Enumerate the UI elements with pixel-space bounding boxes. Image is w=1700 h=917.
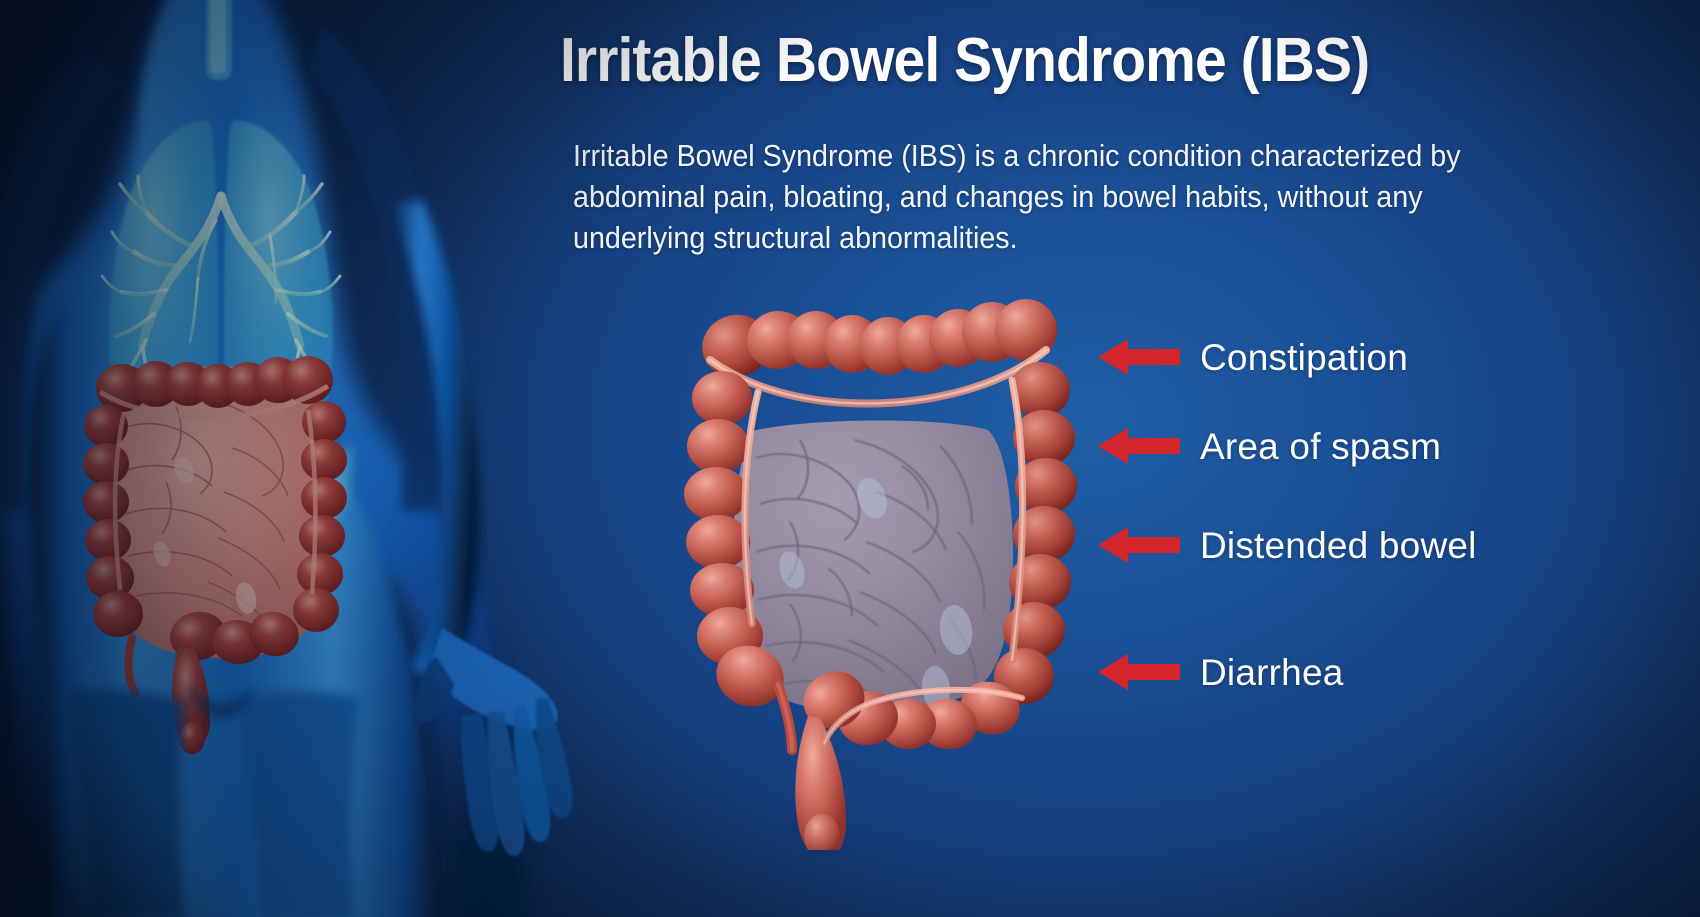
left-arrow-icon — [1098, 337, 1180, 377]
callout-constipation: Constipation — [1098, 333, 1408, 381]
large-intestine-diagram — [640, 280, 1120, 850]
description-paragraph: Irritable Bowel Syndrome (IBS) is a chro… — [573, 136, 1490, 259]
x-ray-human-figure — [0, 0, 670, 917]
callout-diarrhea: Diarrhea — [1098, 648, 1344, 696]
callout-label: Diarrhea — [1200, 654, 1344, 691]
infographic-poster: Irritable Bowel Syndrome (IBS) Irritable… — [0, 0, 1700, 917]
callout-label: Constipation — [1200, 339, 1408, 376]
callout-area-of-spasm: Area of spasm — [1098, 422, 1441, 470]
left-arrow-icon — [1098, 652, 1180, 692]
left-arrow-icon — [1098, 525, 1180, 565]
callout-distended-bowel: Distended bowel — [1098, 521, 1477, 569]
page-title: Irritable Bowel Syndrome (IBS) — [560, 28, 1595, 93]
callout-label: Distended bowel — [1200, 527, 1477, 564]
left-arrow-icon — [1098, 426, 1180, 466]
callout-label: Area of spasm — [1200, 428, 1441, 465]
